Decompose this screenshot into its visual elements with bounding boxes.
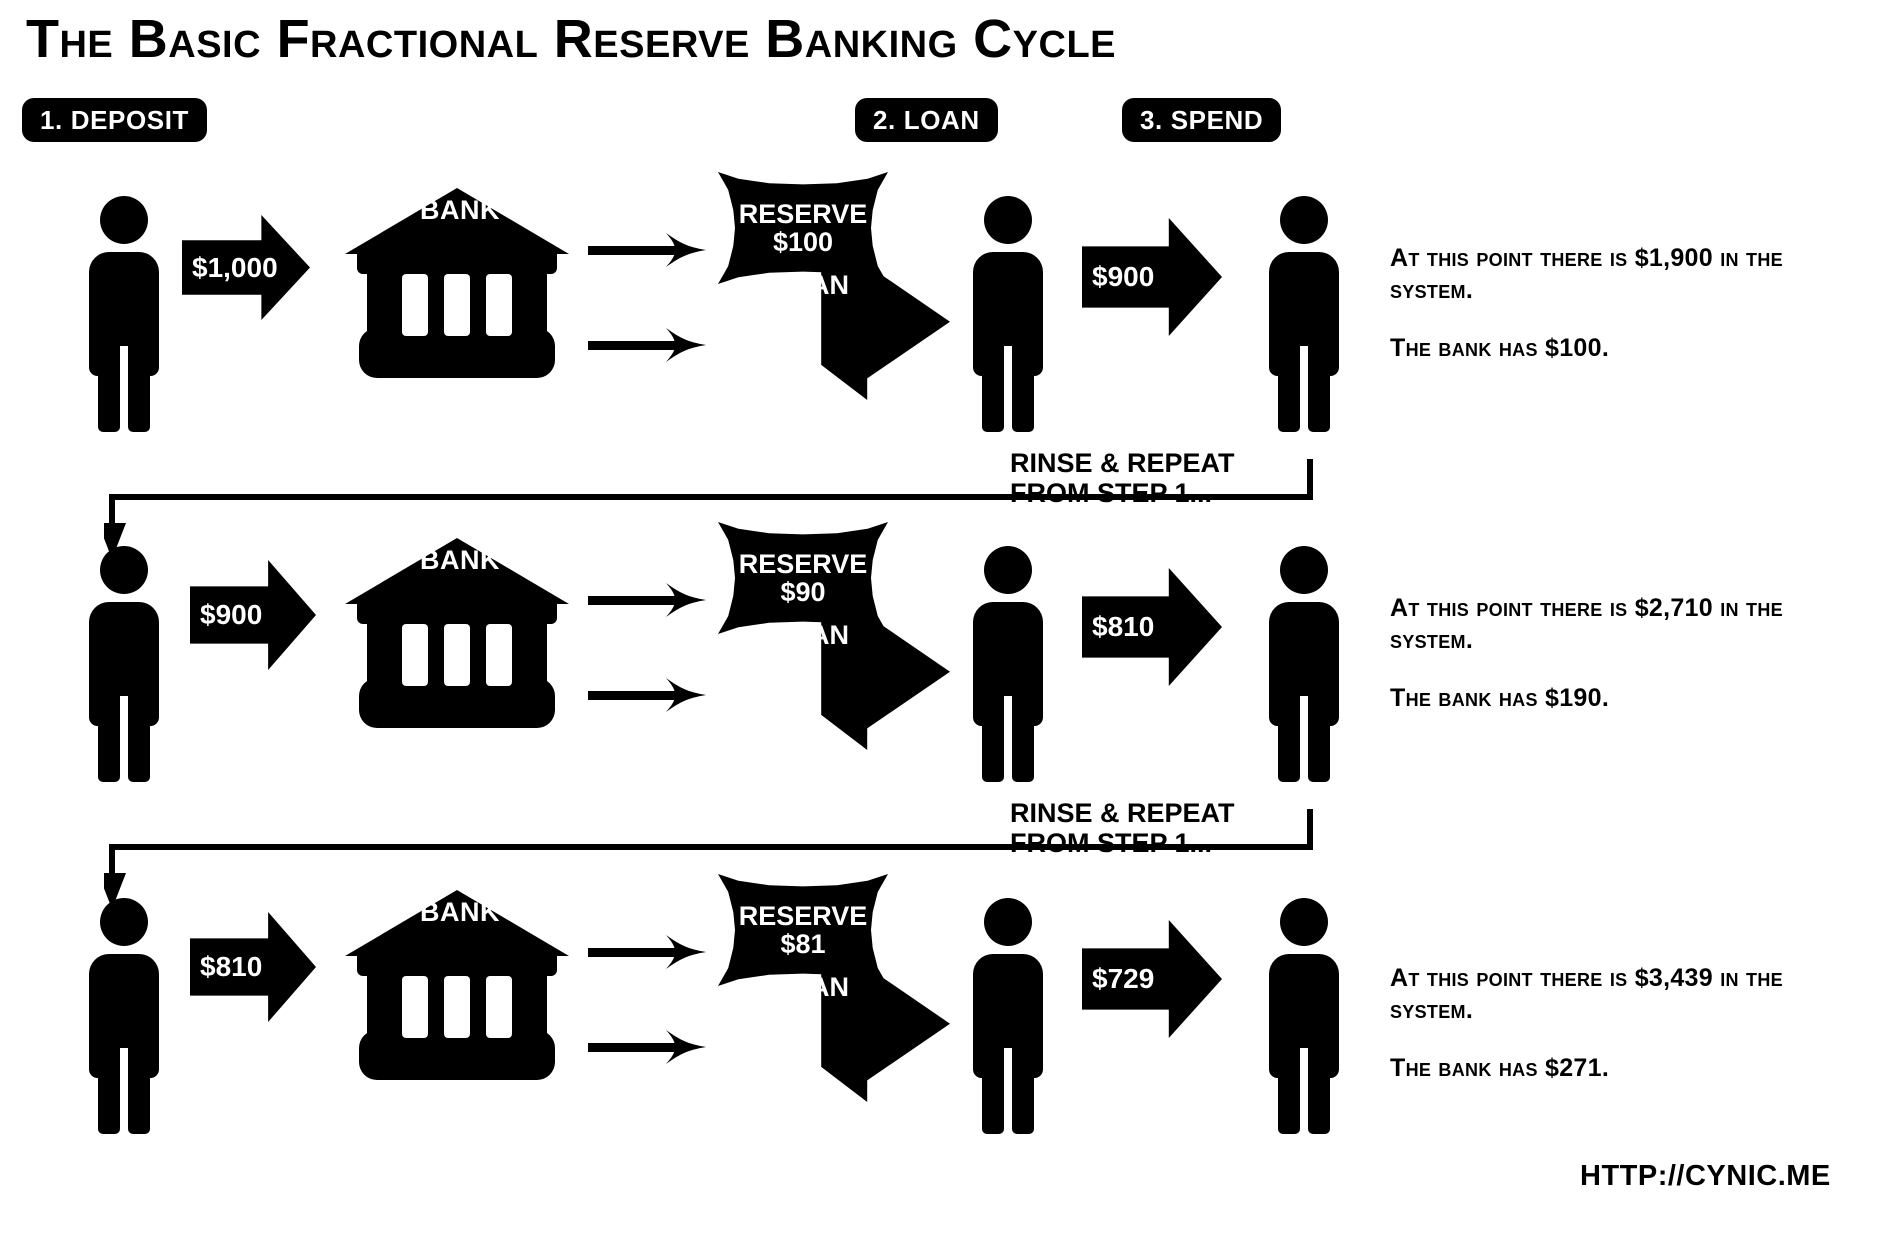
reserve-title: RESERVE: [739, 200, 868, 228]
reserve-amount: $100: [773, 228, 833, 256]
note-line-bank: The bank has $271.: [1390, 1052, 1820, 1084]
reserve-burst-icon: RESERVE $81: [718, 874, 888, 986]
step-badge-spend: 3. SPEND: [1122, 98, 1281, 142]
step-badge-deposit: 1. DEPOSIT: [22, 98, 207, 142]
deposit-amount: $810: [200, 951, 262, 983]
rinse-line2: FROM STEP 1...: [1010, 478, 1212, 508]
loan-arrow-label-group: TO LOAN $810: [720, 615, 950, 750]
money-arrow-spend: $729: [1082, 920, 1222, 1038]
person-icon: [78, 898, 170, 1134]
reserve-amount: $90: [780, 578, 825, 606]
thin-arrow-icon: [588, 935, 706, 969]
person-icon: [78, 546, 170, 782]
money-arrow-spend: $900: [1082, 218, 1222, 336]
money-arrow-deposit: $1,000: [182, 215, 310, 320]
money-arrow-spend: $810: [1082, 568, 1222, 686]
person-icon: [1258, 546, 1350, 782]
note-line-system: At this point there is $3,439 in the sys…: [1390, 964, 1783, 1024]
summary-note: At this point there is $3,439 in the sys…: [1390, 962, 1820, 1084]
bank-icon: [345, 188, 569, 378]
summary-note: At this point there is $1,900 in the sys…: [1390, 242, 1820, 364]
person-icon: [962, 898, 1054, 1134]
reserve-burst-icon: RESERVE $90: [718, 522, 888, 634]
note-line-system: At this point there is $2,710 in the sys…: [1390, 594, 1783, 654]
reserve-title: RESERVE: [739, 550, 868, 578]
note-line-bank: The bank has $190.: [1390, 682, 1820, 714]
thin-arrow-icon: [588, 233, 706, 267]
bank-icon: [345, 538, 569, 728]
deposit-amount: $900: [200, 599, 262, 631]
rinse-line2: FROM STEP 1...: [1010, 828, 1212, 858]
money-arrow-deposit: $900: [190, 560, 316, 670]
rinse-line1: RINSE & REPEAT: [1010, 798, 1235, 828]
person-icon: [962, 546, 1054, 782]
thin-arrow-icon: [588, 328, 706, 362]
note-line-bank: The bank has $100.: [1390, 332, 1820, 364]
footer-url: HTTP://CYNIC.ME: [1580, 1160, 1831, 1193]
thin-arrow-icon: [588, 1030, 706, 1064]
money-arrow-deposit: $810: [190, 912, 316, 1022]
loan-arrow-label-group: TO LOAN $729: [720, 967, 950, 1102]
thin-arrow-icon: [588, 583, 706, 617]
bank-icon: [345, 890, 569, 1080]
spend-amount: $810: [1092, 611, 1154, 643]
summary-note: At this point there is $2,710 in the sys…: [1390, 592, 1820, 714]
person-icon: [1258, 898, 1350, 1134]
reserve-title: RESERVE: [739, 902, 868, 930]
step-badge-loan: 2. LOAN: [855, 98, 998, 142]
person-icon: [78, 196, 170, 432]
rinse-repeat-label: RINSE & REPEAT FROM STEP 1...: [1010, 448, 1235, 508]
note-line-system: At this point there is $1,900 in the sys…: [1390, 244, 1783, 304]
loan-amount: $729: [728, 1000, 788, 1030]
person-icon: [962, 196, 1054, 432]
reserve-burst-icon: RESERVE $100: [718, 172, 888, 284]
loan-arrow-label-group: TO LOAN $900: [720, 265, 950, 400]
rinse-repeat-label: RINSE & REPEAT FROM STEP 1...: [1010, 798, 1235, 858]
infographic-canvas: The Basic Fractional Reserve Banking Cyc…: [0, 0, 1886, 1238]
thin-arrow-icon: [588, 678, 706, 712]
spend-amount: $729: [1092, 963, 1154, 995]
deposit-amount: $1,000: [192, 252, 278, 284]
person-icon: [1258, 196, 1350, 432]
page-title: The Basic Fractional Reserve Banking Cyc…: [26, 8, 1116, 70]
loan-amount: $900: [728, 298, 788, 328]
spend-amount: $900: [1092, 261, 1154, 293]
reserve-amount: $81: [780, 930, 825, 958]
rinse-line1: RINSE & REPEAT: [1010, 448, 1235, 478]
loan-amount: $810: [728, 648, 788, 678]
